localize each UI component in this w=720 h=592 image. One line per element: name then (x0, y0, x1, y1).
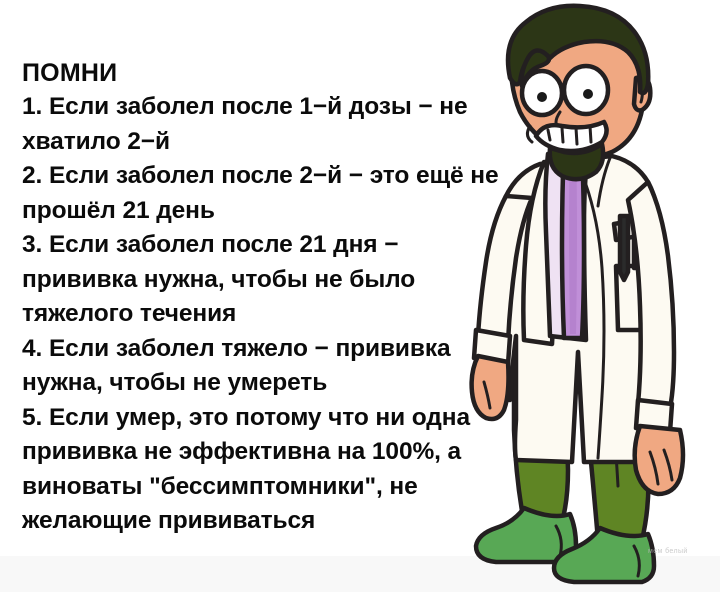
meme-line-10: 5. Если умер, это потому что ни одна (22, 401, 502, 436)
head (508, 6, 650, 179)
meme-line-9: нужна, чтобы не умереть (22, 366, 502, 401)
meme-line-5: 3. Если заболел после 21 дня − (22, 228, 502, 263)
meme-line-3: 2. Если заболел после 2−й − это ещё не (22, 159, 502, 194)
meme-line-11: прививка не эффективна на 100%, а (22, 435, 502, 470)
meme-line-1: 1. Если заболел после 1−й дозы − не (22, 90, 502, 125)
meme-title: ПОМНИ (22, 56, 502, 90)
meme-line-7: тяжелого течения (22, 297, 502, 332)
meme-line-12: виноваты "бессимптомники", не (22, 470, 502, 505)
meme-line-8: 4. Если заболел тяжело − прививка (22, 332, 502, 367)
meme-line-4: прошёл 21 день (22, 194, 502, 229)
cartoon-doctor-illustration: .ol { stroke:#231f20; stroke-width:4.5; … (452, 0, 720, 592)
meme-image: ПОМНИ 1. Если заболел после 1−й дозы − н… (0, 0, 720, 592)
meme-text-block: ПОМНИ 1. Если заболел после 1−й дозы − н… (22, 56, 502, 539)
meme-line-13: желающие прививаться (22, 504, 502, 539)
meme-line-2: хватило 2−й (22, 125, 502, 160)
watermark-text: мем белый (648, 548, 688, 555)
meme-line-6: прививка нужна, чтобы не было (22, 263, 502, 298)
